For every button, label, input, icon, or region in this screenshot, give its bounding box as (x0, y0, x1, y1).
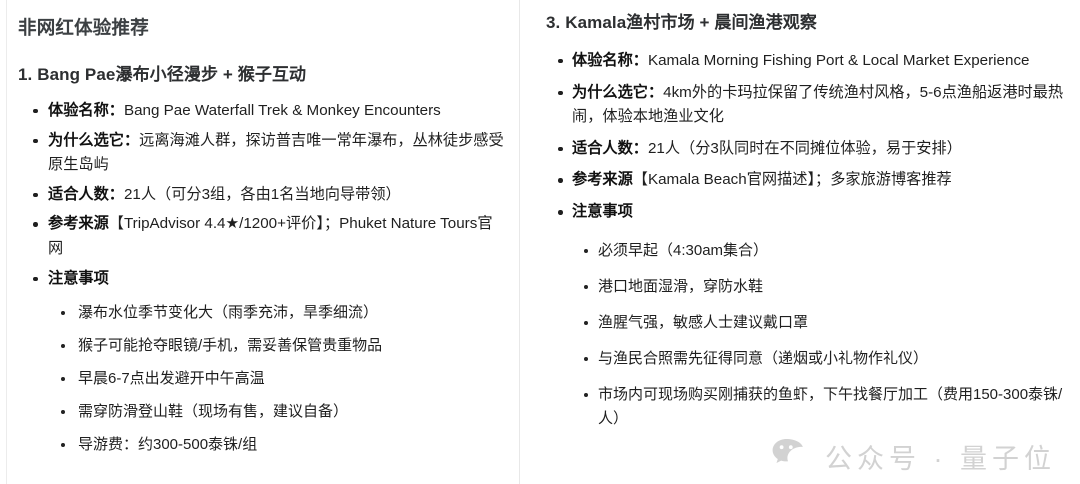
right-column: 3. Kamala渔村市场 + 晨间渔港观察 体验名称：Kamala Morni… (520, 0, 1080, 484)
right-notes-list: 必须早起（4:30am集合） 港口地面湿滑，穿防水鞋 渔腥气强，敏感人士建议戴口… (572, 239, 1064, 431)
item-title-1: 1. Bang Pae瀑布小径漫步 + 猴子互动 (18, 64, 505, 87)
left-notes-list: 瀑布水位季节变化大（雨季充沛，旱季细流） 猴子可能抢夺眼镜/手机，需妥善保管贵重… (48, 301, 505, 457)
list-item: 为什么选它：远离海滩人群，探访普吉唯一常年瀑布，丛林徒步感受原生岛屿 (18, 129, 505, 178)
list-item: 参考来源【Kamala Beach官网描述】；多家旅游博客推荐 (546, 168, 1064, 193)
list-item: 猴子可能抢夺眼镜/手机，需妥善保管贵重物品 (48, 334, 505, 358)
field-label: 参考来源 (572, 171, 633, 188)
list-item: 体验名称：Bang Pae Waterfall Trek & Monkey En… (18, 99, 505, 124)
field-label: 适合人数： (572, 140, 648, 157)
field-value: Bang Pae Waterfall Trek & Monkey Encount… (124, 102, 441, 119)
list-item: 市场内可现场购买刚捕获的鱼虾，下午找餐厅加工（费用150-300泰铢/人） (572, 383, 1064, 431)
list-item: 体验名称：Kamala Morning Fishing Port & Local… (546, 49, 1064, 74)
list-item: 适合人数：21人（可分3组，各由1名当地向导带领） (18, 183, 505, 208)
field-value: 【TripAdvisor 4.4★/1200+评价】；Phuket Nature… (48, 215, 493, 257)
right-field-list: 体验名称：Kamala Morning Fishing Port & Local… (546, 49, 1064, 431)
field-value: Kamala Morning Fishing Port & Local Mark… (648, 52, 1030, 69)
list-item: 港口地面湿滑，穿防水鞋 (572, 275, 1064, 299)
list-item: 早晨6-7点出发避开中午高温 (48, 367, 505, 391)
field-label: 参考来源 (48, 215, 109, 232)
list-item: 适合人数：21人（分3队同时在不同摊位体验，易于安排） (546, 137, 1064, 162)
field-value: 21人（分3队同时在不同摊位体验，易于安排） (648, 140, 962, 157)
list-item: 为什么选它：4km外的卡玛拉保留了传统渔村风格，5-6点渔船返港时最热闹，体验本… (546, 81, 1064, 130)
notes-label: 注意事项 (572, 203, 633, 220)
field-value: 【Kamala Beach官网描述】；多家旅游博客推荐 (633, 171, 952, 188)
list-item: 参考来源【TripAdvisor 4.4★/1200+评价】；Phuket Na… (18, 212, 505, 261)
notes-heading-item: 注意事项 瀑布水位季节变化大（雨季充沛，旱季细流） 猴子可能抢夺眼镜/手机，需妥… (18, 267, 505, 458)
field-value: 21人（可分3组，各由1名当地向导带领） (124, 186, 401, 203)
list-item: 与渔民合照需先征得同意（递烟或小礼物作礼仪） (572, 347, 1064, 371)
field-label: 体验名称： (572, 52, 648, 69)
section-title: 非网红体验推荐 (18, 16, 505, 40)
list-item: 必须早起（4:30am集合） (572, 239, 1064, 263)
field-label: 为什么选它： (48, 132, 139, 149)
left-field-list: 体验名称：Bang Pae Waterfall Trek & Monkey En… (18, 99, 505, 457)
notes-heading-item: 注意事项 必须早起（4:30am集合） 港口地面湿滑，穿防水鞋 渔腥气强，敏感人… (546, 200, 1064, 431)
field-label: 适合人数： (48, 186, 124, 203)
document-page: 非网红体验推荐 1. Bang Pae瀑布小径漫步 + 猴子互动 体验名称：Ba… (0, 0, 1080, 484)
left-column: 非网红体验推荐 1. Bang Pae瀑布小径漫步 + 猴子互动 体验名称：Ba… (0, 0, 519, 484)
list-item: 导游费：约300-500泰铢/组 (48, 433, 505, 457)
list-item: 瀑布水位季节变化大（雨季充沛，旱季细流） (48, 301, 505, 325)
field-label: 为什么选它： (572, 84, 663, 101)
list-item: 渔腥气强，敏感人士建议戴口罩 (572, 311, 1064, 335)
notes-label: 注意事项 (48, 270, 109, 287)
list-item: 需穿防滑登山鞋（现场有售，建议自备） (48, 400, 505, 424)
item-title-3: 3. Kamala渔村市场 + 晨间渔港观察 (546, 12, 1064, 35)
field-label: 体验名称： (48, 102, 124, 119)
